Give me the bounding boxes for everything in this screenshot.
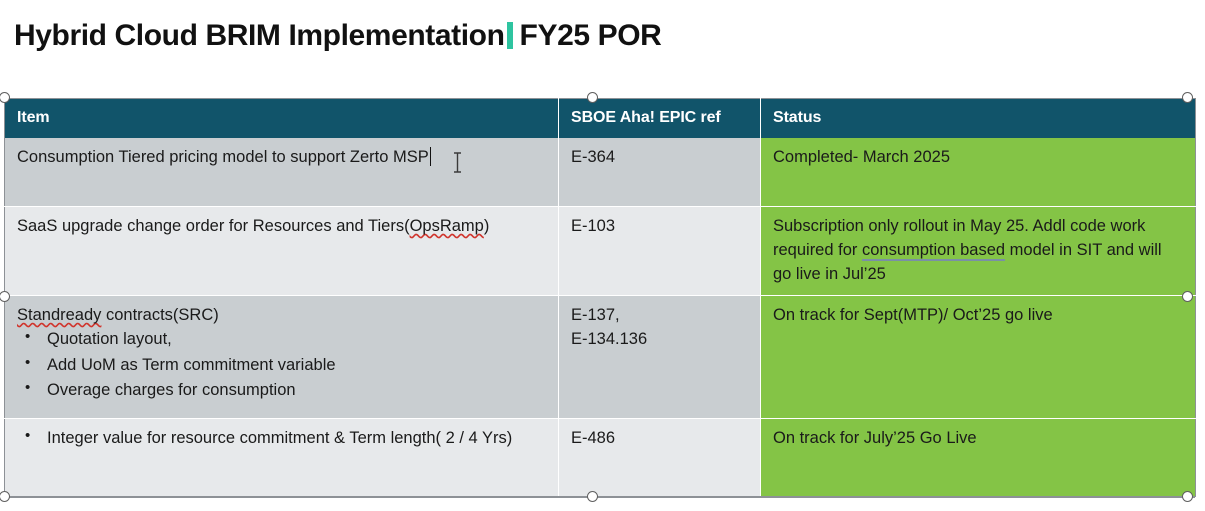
list-item: Integer value for resource commitment & … (47, 426, 546, 451)
column-header-status: Status (761, 99, 1196, 139)
cell-epic-ref[interactable]: E-103 (559, 206, 761, 295)
grammar-flagged-phrase: consumption based (862, 241, 1005, 261)
title-separator-bar (507, 22, 513, 49)
misspelled-word: Standready (17, 306, 101, 324)
page-title-sub: FY25 POR (520, 19, 662, 52)
cell-status[interactable]: On track for July’25 Go Live (761, 418, 1196, 496)
list-item: Overage charges for consumption (47, 378, 546, 403)
cell-epic-ref[interactable]: E-486 (559, 418, 761, 496)
misspelled-word: OpsRamp (410, 217, 484, 235)
list-item: Quotation layout, (47, 327, 546, 352)
selection-handle-top-center[interactable] (587, 92, 598, 103)
cell-epic-ref[interactable]: E-364 (559, 138, 761, 206)
por-table[interactable]: Item SBOE Aha! EPIC ref Status Consumpti… (4, 98, 1196, 497)
selection-handle-bottom-left[interactable] (0, 491, 10, 502)
text-insertion-caret (430, 147, 432, 166)
table-header-row: Item SBOE Aha! EPIC ref Status (5, 99, 1196, 139)
selection-edge-bottom (4, 496, 1195, 498)
cell-item[interactable]: Integer value for resource commitment & … (5, 418, 559, 496)
cell-status[interactable]: Completed- March 2025 (761, 138, 1196, 206)
selection-handle-top-right[interactable] (1182, 92, 1193, 103)
selection-handle-bottom-center[interactable] (587, 491, 598, 502)
item-heading-tail: contracts(SRC) (101, 306, 218, 324)
epic-ref-line1: E-137, (571, 303, 748, 327)
list-item: Add UoM as Term commitment variable (47, 353, 546, 378)
page-title: Hybrid Cloud BRIM ImplementationFY25 POR (14, 16, 661, 56)
epic-ref-line2: E-134.136 (571, 327, 748, 351)
column-header-epic-ref: SBOE Aha! EPIC ref (559, 99, 761, 139)
cell-epic-ref[interactable]: E-137, E-134.136 (559, 296, 761, 419)
table-row[interactable]: Integer value for resource commitment & … (5, 418, 1196, 496)
item-text-line1: SaaS upgrade change order for Resources … (17, 217, 410, 235)
cell-status[interactable]: Subscription only rollout in May 25. Add… (761, 206, 1196, 295)
table-row[interactable]: SaaS upgrade change order for Resources … (5, 206, 1196, 295)
table-row[interactable]: Standready contracts(SRC) Quotation layo… (5, 296, 1196, 419)
cell-item[interactable]: SaaS upgrade change order for Resources … (5, 206, 559, 295)
selection-handle-middle-right[interactable] (1182, 291, 1193, 302)
column-header-item: Item (5, 99, 559, 139)
item-heading: Standready contracts(SRC) (17, 303, 546, 327)
bullet-list: Integer value for resource commitment & … (17, 426, 546, 451)
table-row[interactable]: Consumption Tiered pricing model to supp… (5, 138, 1196, 206)
bullet-list: Quotation layout, Add UoM as Term commit… (17, 327, 546, 403)
cell-item[interactable]: Consumption Tiered pricing model to supp… (5, 138, 559, 206)
page-title-main: Hybrid Cloud BRIM Implementation (14, 19, 505, 52)
selection-handle-bottom-right[interactable] (1182, 491, 1193, 502)
item-text-line2-tail: ) (484, 217, 490, 235)
cell-item[interactable]: Standready contracts(SRC) Quotation layo… (5, 296, 559, 419)
item-text: Consumption Tiered pricing model to supp… (17, 148, 429, 166)
cell-status[interactable]: On track for Sept(MTP)/ Oct’25 go live (761, 296, 1196, 419)
